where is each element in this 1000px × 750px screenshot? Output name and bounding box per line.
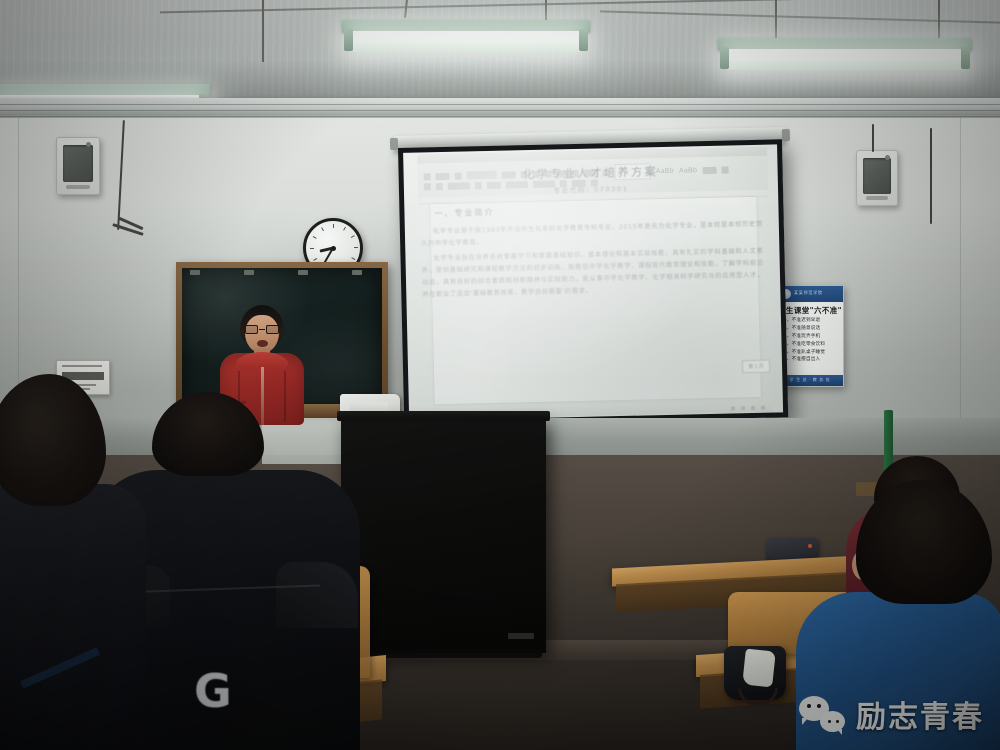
light-wire	[775, 0, 777, 42]
fluorescent-tube	[725, 49, 965, 70]
light-cap	[579, 29, 588, 51]
jacket-logo: G	[194, 666, 272, 716]
student-left	[0, 374, 130, 750]
lectern-badge	[508, 633, 534, 639]
document-section-heading: 一、专业简介	[434, 207, 494, 219]
speaker-knob	[885, 155, 890, 160]
poster-header: 某某师范学院	[777, 286, 843, 302]
light-cap	[720, 47, 729, 69]
lectern	[341, 417, 546, 653]
speaker-cable-right	[872, 124, 874, 152]
watermark: 励志青春	[799, 692, 984, 736]
ceiling-light-right	[718, 38, 972, 72]
speaker-vent	[66, 185, 90, 189]
light-cap	[961, 47, 970, 69]
student-hair-curly	[0, 374, 106, 506]
jacket-shoulder	[276, 562, 358, 628]
dark-coat	[0, 484, 146, 750]
eyeglasses-icon	[245, 325, 279, 334]
student-hair	[856, 480, 992, 604]
poster-rule-item: 五、不准趴桌子睡觉	[782, 349, 839, 357]
poster-rule-item: 三、不准玩弄手机	[782, 333, 839, 341]
wall-seam	[960, 118, 961, 448]
document-body: 化学专业源于我1983年开设的生化系的化学教育专科专业，2015年更名为化学专业…	[421, 219, 765, 305]
light-cap	[344, 29, 353, 51]
student-hair	[152, 392, 264, 476]
screen-bezel: AaBb AaBb	[398, 139, 788, 426]
poster-header-text: 某某师范学院	[794, 290, 823, 296]
poster-rule-item: 二、不准随意说话	[782, 325, 839, 333]
speaker-vent	[866, 196, 888, 200]
screen-surface: AaBb AaBb	[403, 144, 783, 420]
wall-speaker-right	[856, 150, 898, 206]
page-indicator: 第 1 页	[742, 360, 770, 374]
ceiling-light-center	[342, 20, 590, 54]
presenter-mouth	[257, 340, 268, 347]
poster-rule-item: 六、不准擅自出入	[782, 356, 839, 364]
wechat-icon	[799, 696, 845, 732]
white-cloth	[742, 649, 776, 688]
watermark-account-name: 励志青春	[856, 692, 984, 736]
wall-conduit-right	[930, 128, 932, 224]
speaker-grille	[863, 158, 892, 194]
fluorescent-tube	[349, 31, 583, 52]
bag-on-desk	[724, 646, 786, 700]
poster-title: 学生课堂"六不准"	[777, 305, 843, 316]
lectern-top	[337, 411, 550, 421]
poster-rule-item: 四、不准吃零食饮料	[782, 341, 839, 349]
speaker-grille	[63, 145, 93, 182]
document-paragraph: 化学专业旨在培养系统掌握学习和掌握基础知识、基本理论和基本实验技能，具有扎实的学…	[421, 246, 764, 302]
wall-speaker-left	[56, 137, 100, 195]
poster-rule-list: 一、不准迟到早退 二、不准随意说话 三、不准玩弄手机 四、不准吃零食饮料 五、不…	[782, 317, 839, 364]
poster-rule-item: 一、不准迟到早退	[782, 317, 839, 325]
bag-strap	[20, 647, 100, 688]
classroom-photo: 某某师范学院 学生课堂"六不准" 一、不准迟到早退 二、不准随意说话 三、不准玩…	[0, 0, 1000, 750]
clock-center-pin	[331, 246, 336, 251]
projection-screen: AaBb AaBb	[398, 139, 788, 426]
